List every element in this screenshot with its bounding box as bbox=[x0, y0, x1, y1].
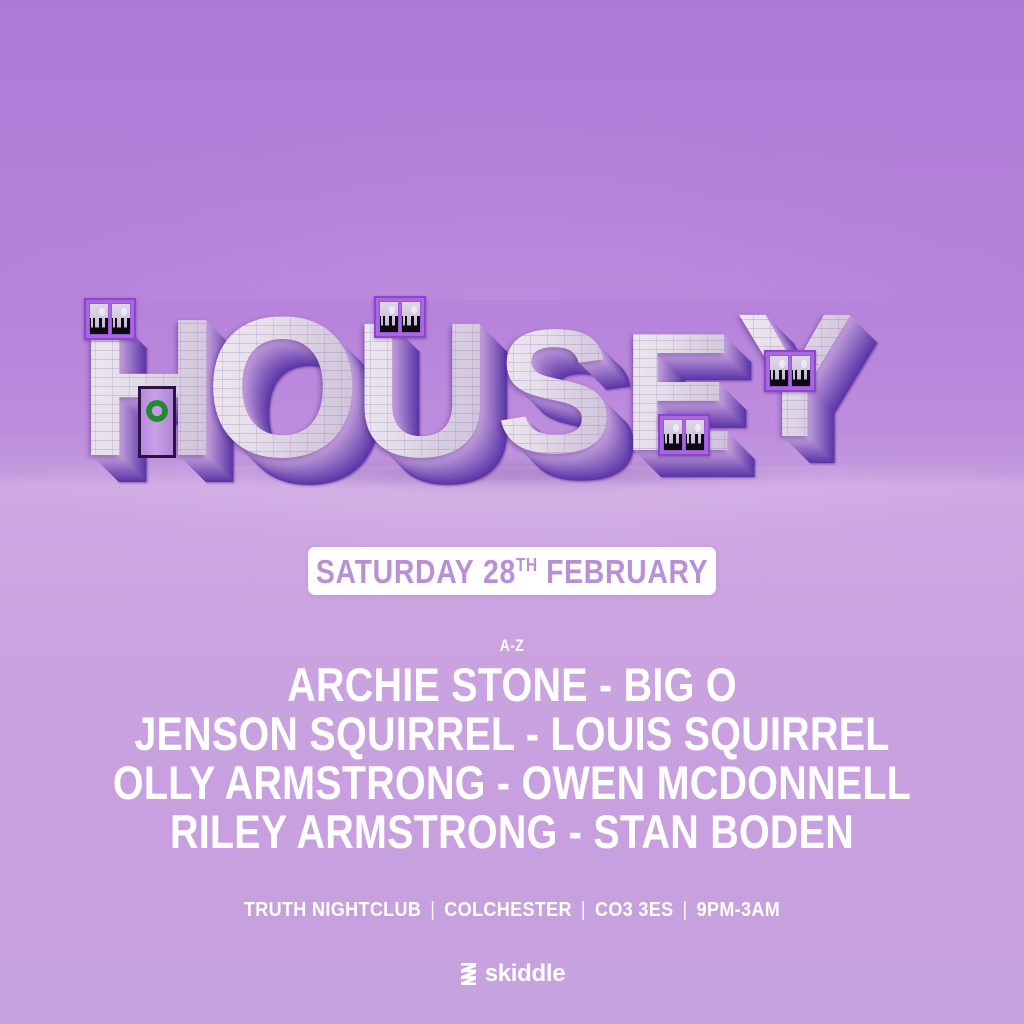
letter-face: O bbox=[205, 288, 357, 488]
headline-wordmark: H H H O O O U U U S S S bbox=[72, 268, 952, 483]
lineup-line: OLLY ARMSTRONG - OWEN MCDONNELL bbox=[82, 758, 942, 807]
skiddle-branding[interactable]: skiddle bbox=[0, 962, 1024, 986]
wreath-icon bbox=[146, 400, 168, 422]
skiddle-wordmark: skiddle bbox=[485, 962, 566, 986]
window-pane bbox=[791, 355, 811, 387]
venue-separator: | bbox=[421, 900, 444, 920]
window-pane bbox=[401, 301, 421, 333]
date-day: 28 bbox=[483, 553, 516, 590]
venue-city: COLCHESTER bbox=[444, 899, 572, 921]
venue-separator: | bbox=[572, 900, 595, 920]
house-window-icon bbox=[658, 414, 710, 456]
window-pane bbox=[89, 303, 109, 335]
window-pane bbox=[685, 419, 705, 451]
window-pane bbox=[111, 303, 131, 335]
house-window-icon bbox=[764, 350, 816, 392]
date-day-suffix: TH bbox=[516, 555, 538, 575]
headline-wordmark-area: H H H O O O U U U S S S bbox=[0, 268, 1024, 498]
skiddle-s-icon bbox=[459, 963, 478, 985]
house-window-icon bbox=[374, 296, 426, 338]
window-pane bbox=[663, 419, 683, 451]
window-pane bbox=[769, 355, 789, 387]
event-poster: H H H O O O U U U S S S bbox=[0, 0, 1024, 1024]
date-month: FEBRUARY bbox=[546, 553, 708, 590]
house-window-icon bbox=[84, 298, 136, 340]
window-pane bbox=[379, 301, 399, 333]
lineup-order-label: A-Z bbox=[92, 637, 932, 654]
wordmark-letters: H H H O O O U U U S S S bbox=[72, 268, 952, 483]
lineup-line: RILEY ARMSTRONG - STAN BODEN bbox=[82, 807, 942, 856]
lineup-list: ARCHIE STONE - BIG O JENSON SQUIRREL - L… bbox=[0, 660, 1024, 856]
lineup-line: ARCHIE STONE - BIG O bbox=[82, 660, 942, 709]
date-weekday: SATURDAY bbox=[316, 553, 474, 590]
venue-separator: | bbox=[674, 900, 697, 920]
venue-name: TRUTH NIGHTCLUB bbox=[244, 899, 421, 921]
venue-info: TRUTH NIGHTCLUB|COLCHESTER|CO3 3ES|9PM-3… bbox=[51, 900, 973, 920]
letter-face: S bbox=[496, 304, 610, 480]
background-top-glow bbox=[0, 0, 1024, 300]
date-banner: SATURDAY 28TH FEBRUARY bbox=[308, 547, 716, 595]
venue-postcode: CO3 3ES bbox=[595, 899, 674, 921]
lineup-line: JENSON SQUIRREL - LOUIS SQUIRREL bbox=[82, 709, 942, 758]
venue-times: 9PM-3AM bbox=[697, 899, 781, 921]
house-door-icon bbox=[138, 386, 176, 458]
date-text: SATURDAY 28TH FEBRUARY bbox=[316, 555, 708, 588]
